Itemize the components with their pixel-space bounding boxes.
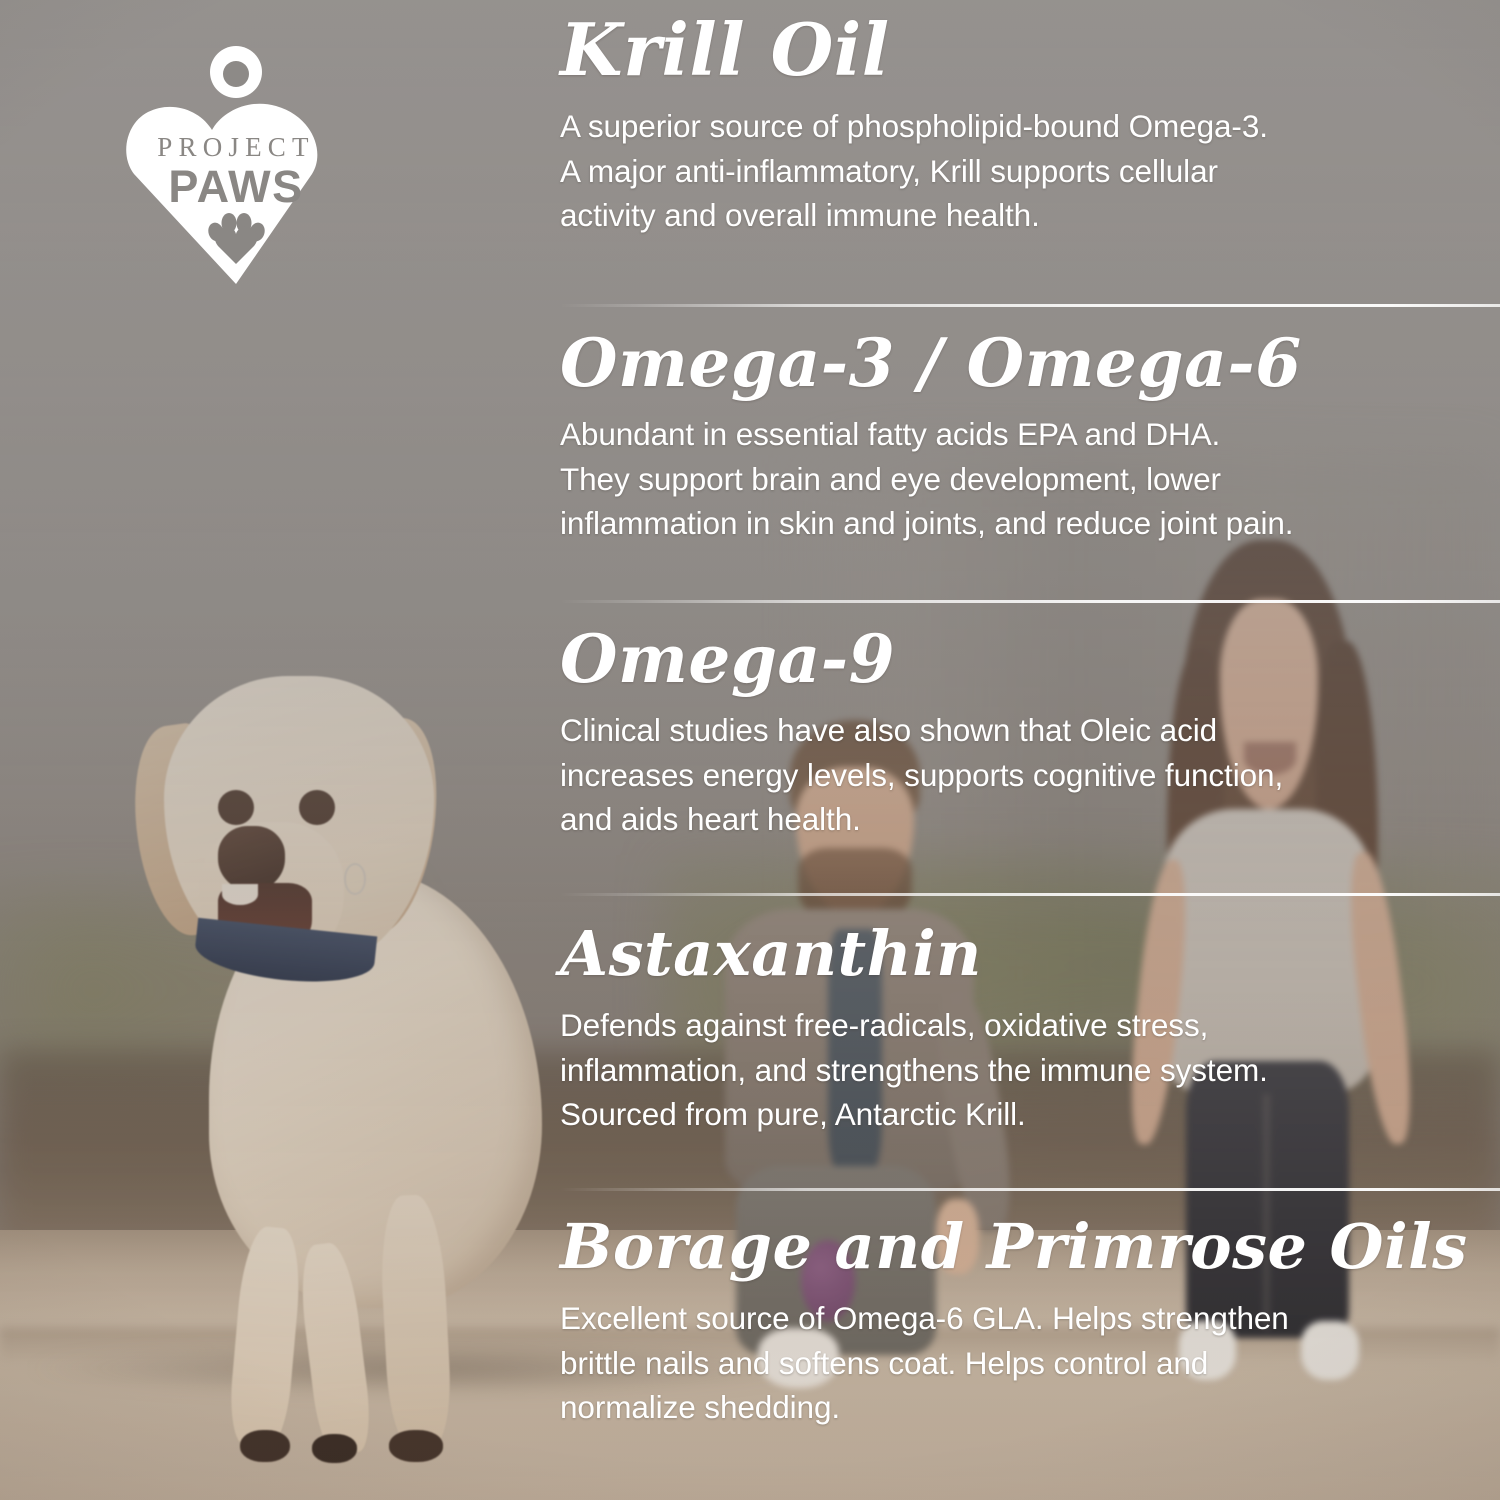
body-line: brittle nails and softens coat. Helps co…: [560, 1341, 1500, 1386]
body-line: Defends against free-radicals, oxidative…: [560, 1003, 1500, 1048]
section-body: Defends against free-radicals, oxidative…: [560, 1003, 1500, 1137]
content-layer: PROJECT PAWS Krill Oil A superior source…: [0, 0, 1500, 1500]
section-borage-and-primrose-oils: Borage and Primrose Oils Excellent sourc…: [560, 1188, 1500, 1430]
body-line: Abundant in essential fatty acids EPA an…: [560, 412, 1500, 457]
body-line: Clinical studies have also shown that Ol…: [560, 708, 1500, 753]
brand-line1: PROJECT: [157, 132, 314, 162]
body-line: inflammation, and strengthens the immune…: [560, 1048, 1500, 1093]
body-line: and aids heart health.: [560, 797, 1500, 842]
body-line: activity and overall immune health.: [560, 193, 1500, 238]
body-line: Sourced from pure, Antarctic Krill.: [560, 1092, 1500, 1137]
section-title: Omega-9: [560, 626, 1500, 692]
body-line: A superior source of phospholipid-bound …: [560, 104, 1500, 149]
section-krill-oil: Krill Oil A superior source of phospholi…: [560, 14, 1500, 304]
ingredient-sections: Krill Oil A superior source of phospholi…: [560, 14, 1500, 1430]
infographic-canvas: PROJECT PAWS Krill Oil A superior source…: [0, 0, 1500, 1500]
section-omega-3-omega-6: Omega-3 / Omega-6 Abundant in essential …: [560, 304, 1500, 600]
brand-logo: PROJECT PAWS: [126, 44, 346, 294]
section-astaxanthin: Astaxanthin Defends against free-radical…: [560, 893, 1500, 1188]
body-line: inflammation in skin and joints, and red…: [560, 501, 1500, 546]
section-omega-9: Omega-9 Clinical studies have also shown…: [560, 600, 1500, 893]
section-title: Omega-3 / Omega-6: [560, 330, 1500, 396]
brand-line2: PAWS: [168, 161, 303, 212]
body-line: A major anti-inflammatory, Krill support…: [560, 149, 1500, 194]
body-line: Excellent source of Omega-6 GLA. Helps s…: [560, 1296, 1500, 1341]
section-title: Borage and Primrose Oils: [560, 1216, 1500, 1278]
section-body: A superior source of phospholipid-bound …: [560, 104, 1500, 238]
section-body: Clinical studies have also shown that Ol…: [560, 708, 1500, 842]
body-line: increases energy levels, supports cognit…: [560, 753, 1500, 798]
section-title: Astaxanthin: [560, 923, 1500, 985]
body-line: They support brain and eye development, …: [560, 457, 1500, 502]
section-body: Excellent source of Omega-6 GLA. Helps s…: [560, 1296, 1500, 1430]
body-line: normalize shedding.: [560, 1385, 1500, 1430]
section-body: Abundant in essential fatty acids EPA an…: [560, 412, 1500, 546]
section-title: Krill Oil: [560, 14, 1500, 86]
